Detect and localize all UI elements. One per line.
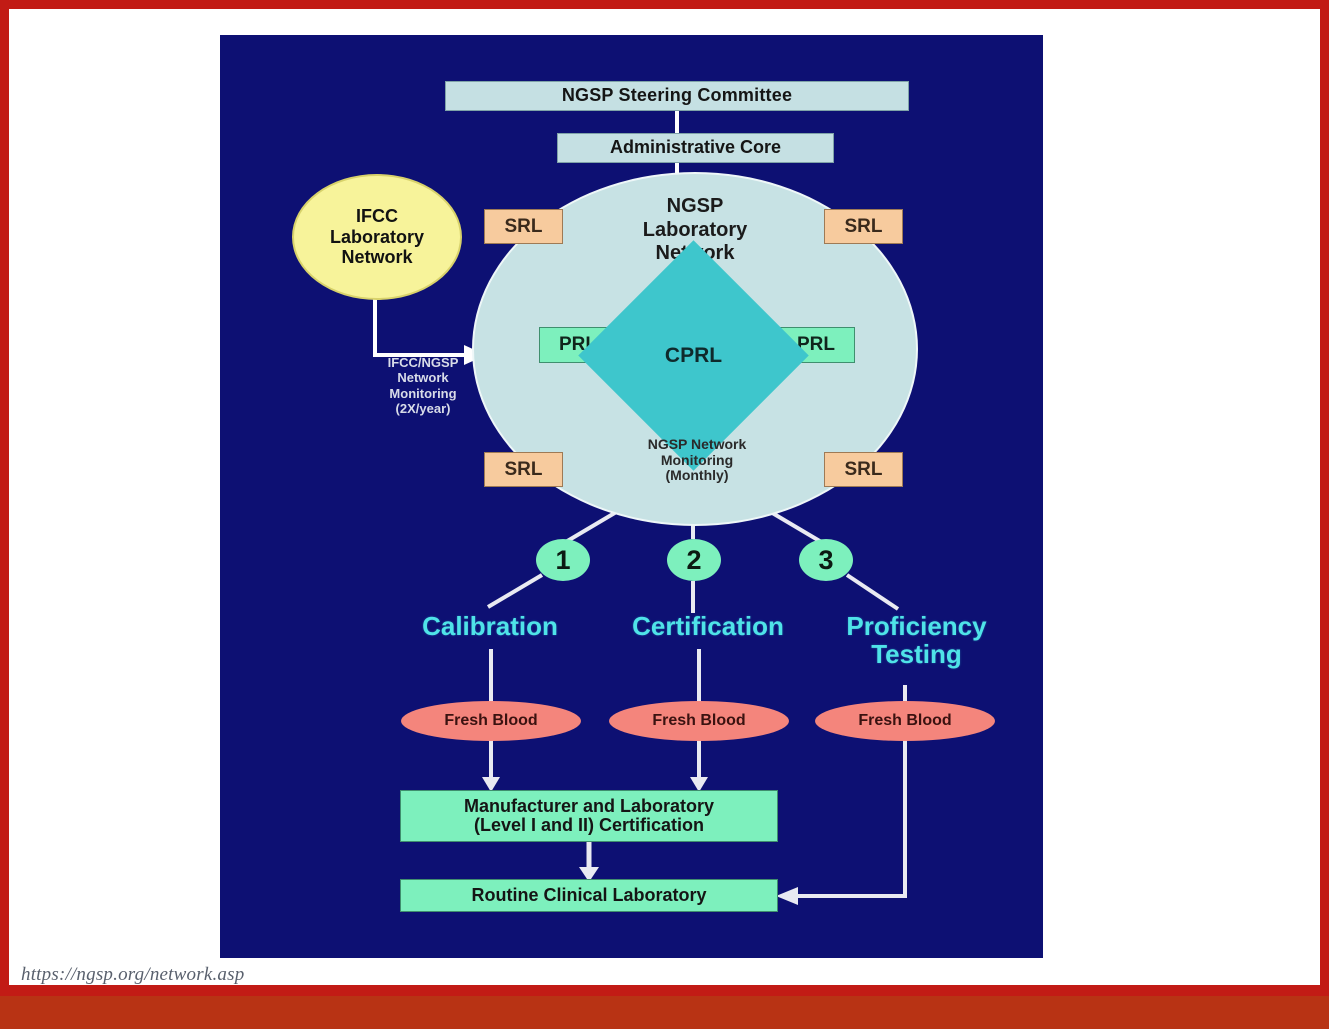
steering-committee-box: NGSP Steering Committee (445, 81, 909, 111)
ifcc-note-line-3: Monitoring (348, 386, 498, 401)
monitoring-line-3: (Monthly) (582, 468, 812, 484)
ifcc-line-1: IFCC (330, 206, 424, 227)
manufacturer-certification-box: Manufacturer and Laboratory (Level I and… (400, 790, 778, 842)
network-title-line-1: NGSP (575, 195, 815, 219)
stage-3-line-2: Testing (814, 641, 1019, 669)
ifcc-line-3: Network (330, 247, 424, 268)
cprl-label: CPRL (612, 274, 775, 437)
fresh-blood-ellipse-1: Fresh Blood (401, 701, 581, 741)
srl-box-top-right: SRL (824, 209, 903, 244)
stage-label-proficiency-testing: Proficiency Testing (814, 613, 1019, 668)
ifcc-line-2: Laboratory (330, 227, 424, 248)
ngsp-network-monitoring-note: NGSP Network Monitoring (Monthly) (582, 437, 812, 484)
fresh-blood-ellipse-2: Fresh Blood (609, 701, 789, 741)
stage-number-3: 3 (799, 539, 853, 581)
monitoring-line-2: Monitoring (582, 453, 812, 469)
fresh-blood-ellipse-3: Fresh Blood (815, 701, 995, 741)
stage-number-2: 2 (667, 539, 721, 581)
ifcc-note-line-4: (2X/year) (348, 401, 498, 416)
stage-2-line-1: Certification (608, 613, 808, 641)
stage-number-1: 1 (536, 539, 590, 581)
ifcc-laboratory-network-ellipse: IFCC Laboratory Network (292, 174, 462, 300)
routine-clinical-laboratory-box: Routine Clinical Laboratory (400, 879, 778, 912)
manufacturer-line-2: (Level I and II) Certification (474, 816, 704, 835)
slide-canvas: NGSP Steering Committee Administrative C… (0, 0, 1329, 996)
ifcc-ngsp-monitoring-note: IFCC/NGSP Network Monitoring (2X/year) (348, 355, 498, 416)
stage-label-certification: Certification (608, 613, 808, 641)
ifcc-note-line-2: Network (348, 370, 498, 385)
manufacturer-line-1: Manufacturer and Laboratory (464, 797, 714, 816)
administrative-core-box: Administrative Core (557, 133, 834, 163)
bottom-accent-bar (0, 996, 1329, 1029)
srl-box-bottom-left: SRL (484, 452, 563, 487)
srl-box-bottom-right: SRL (824, 452, 903, 487)
srl-box-top-left: SRL (484, 209, 563, 244)
stage-label-calibration: Calibration (390, 613, 590, 641)
monitoring-line-1: NGSP Network (582, 437, 812, 453)
source-url-caption: https://ngsp.org/network.asp (21, 964, 244, 986)
ngsp-network-diagram: NGSP Steering Committee Administrative C… (220, 35, 1043, 958)
ifcc-note-line-1: IFCC/NGSP (348, 355, 498, 370)
network-title-line-2: Laboratory (575, 219, 815, 243)
stage-1-line-1: Calibration (390, 613, 590, 641)
stage-3-line-1: Proficiency (814, 613, 1019, 641)
